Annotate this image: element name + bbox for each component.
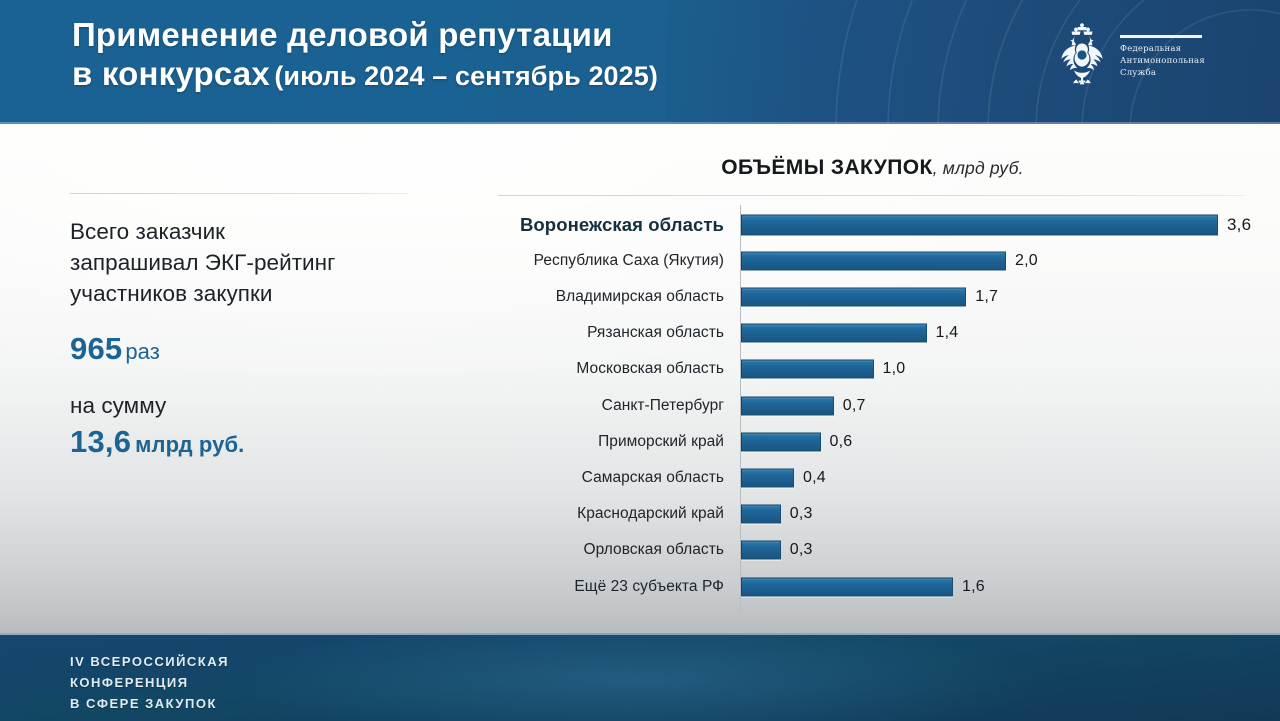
chart-bar-track: 2,0 (732, 247, 1260, 274)
total-sum-value: 13,6 (70, 424, 131, 459)
chart-bar-value: 0,7 (843, 397, 866, 415)
slide-footer: IV ВСЕРОССИЙСКАЯ КОНФЕРЕНЦИЯ В СФЕРЕ ЗАК… (0, 633, 1280, 721)
chart-bar-row: Ещё 23 субъекта РФ1,6 (430, 573, 1260, 600)
chart-bar-label: Воронежская область (430, 214, 732, 236)
chart-bar-value: 0,3 (790, 541, 813, 559)
left-panel-divider (70, 193, 408, 194)
slide-body: Всего заказчик запрашивал ЭКГ-рейтинг уч… (0, 124, 1280, 633)
chart-bar (741, 432, 821, 451)
chart-bar-value: 1,7 (975, 288, 998, 306)
chart-bar-label: Владимирская область (430, 288, 732, 306)
double-headed-eagle-icon (1052, 22, 1112, 86)
lede-line-2: запрашивал ЭКГ-рейтинг (70, 248, 422, 279)
sum-caption: на сумму (70, 393, 422, 419)
chart-bar-label: Орловская область (430, 541, 732, 559)
chart-title-unit: , млрд руб. (933, 158, 1024, 178)
request-count-stat: 965раз (70, 331, 422, 367)
slide-title-text-2: в конкурсах (72, 55, 270, 92)
footer-top-divider (0, 633, 1280, 635)
chart-bar-label: Ещё 23 субъекта РФ (430, 578, 732, 596)
total-sum-unit: млрд руб. (135, 432, 244, 457)
chart-title-main: ОБЪЁМЫ ЗАКУПОК (721, 156, 932, 179)
chart-bar-label: Рязанская область (430, 324, 732, 342)
chart-bar-row: Орловская область0,3 (430, 537, 1260, 564)
chart-title-divider (498, 195, 1245, 196)
chart-bar-row: Воронежская область3,6 (430, 211, 1260, 238)
slide-header: Применение деловой репутации в конкурсах… (0, 0, 1280, 124)
chart-bar-row: Самарская область0,4 (430, 464, 1260, 491)
chart-bar-label: Республика Саха (Якутия) (430, 252, 732, 270)
chart-bar (741, 468, 794, 487)
chart-bar-row: Санкт-Петербург0,7 (430, 392, 1260, 419)
chart-bar-label: Московская область (430, 360, 732, 378)
chart-bar (741, 505, 781, 524)
slide-title: Применение деловой репутации в конкурсах… (72, 16, 912, 94)
footer-glow (230, 633, 1049, 721)
conference-branding: IV ВСЕРОССИЙСКАЯ КОНФЕРЕНЦИЯ В СФЕРЕ ЗАК… (70, 651, 229, 714)
chart-bar-track: 0,7 (732, 392, 1260, 419)
chart-bar-track: 0,6 (732, 428, 1260, 455)
chart-bar-track: 1,6 (732, 573, 1260, 600)
chart-bar (741, 287, 966, 306)
chart-title: ОБЪЁМЫ ЗАКУПОК, млрд руб. (500, 156, 1245, 180)
chart-bar-track: 1,4 (732, 320, 1260, 347)
chart-bar-row: Приморский край0,6 (430, 428, 1260, 455)
chart-bar (741, 396, 834, 415)
chart-bar (741, 251, 1006, 270)
lede-line-1: Всего заказчик (70, 217, 422, 248)
chart-bar (741, 324, 927, 343)
chart-bar-value: 1,6 (962, 578, 985, 596)
chart-bar-row: Краснодарский край0,3 (430, 501, 1260, 528)
request-count-value: 965 (70, 331, 122, 366)
chart-bar-track: 0,4 (732, 464, 1260, 491)
chart-bar-value: 1,0 (883, 360, 906, 378)
fas-logo: Федеральная Антимонопольная Служба (1052, 14, 1242, 94)
chart-bar-track: 1,0 (732, 356, 1260, 383)
logo-line-2: Антимонопольная (1120, 55, 1205, 67)
chart-bar-track: 0,3 (732, 501, 1260, 528)
chart-bar-row: Владимирская область1,7 (430, 283, 1260, 310)
request-count-unit: раз (125, 339, 160, 364)
footer-line-3: В СФЕРЕ ЗАКУПОК (70, 693, 229, 714)
chart-bar-value: 0,3 (790, 505, 813, 523)
chart-bar-value: 0,4 (803, 469, 826, 487)
footer-line-1: IV ВСЕРОССИЙСКАЯ (70, 651, 229, 672)
lede-line-3: участников закупки (70, 279, 422, 310)
logo-line-3: Служба (1120, 67, 1205, 79)
slide-title-period: (июль 2024 – сентябрь 2025) (274, 61, 658, 91)
logo-rule (1120, 35, 1202, 38)
chart-bar (741, 214, 1218, 235)
chart-bar-value: 1,4 (936, 324, 959, 342)
chart-bar (741, 541, 781, 560)
chart-bar-label: Санкт-Петербург (430, 397, 732, 415)
chart-bar-track: 0,3 (732, 537, 1260, 564)
fas-logo-text: Федеральная Антимонопольная Служба (1120, 29, 1205, 79)
chart-bar-label: Самарская область (430, 469, 732, 487)
chart-bar-row: Рязанская область1,4 (430, 320, 1260, 347)
chart-bar-label: Приморский край (430, 433, 732, 451)
slide-title-text-1: Применение деловой репутации (72, 16, 613, 53)
chart-bar-track: 1,7 (732, 283, 1260, 310)
chart-bar-track: 3,6 (732, 211, 1260, 238)
chart-bar-row: Московская область1,0 (430, 356, 1260, 383)
chart-bar-value: 0,6 (830, 433, 853, 451)
footer-line-2: КОНФЕРЕНЦИЯ (70, 672, 229, 693)
left-stats-panel: Всего заказчик запрашивал ЭКГ-рейтинг уч… (70, 217, 422, 460)
logo-line-1: Федеральная (1120, 43, 1205, 55)
slide-title-line-1: Применение деловой репутации (72, 16, 912, 55)
chart-bar-value: 3,6 (1227, 215, 1251, 235)
chart-bar-value: 2,0 (1015, 252, 1038, 270)
chart-bar-label: Краснодарский край (430, 505, 732, 523)
procurement-volume-bar-chart: Воронежская область3,6Республика Саха (Я… (430, 205, 1260, 615)
slide-title-line-2: в конкурсах (июль 2024 – сентябрь 2025) (72, 55, 912, 94)
chart-bar (741, 577, 953, 596)
total-sum-stat: 13,6млрд руб. (70, 424, 422, 460)
chart-bar-row: Республика Саха (Якутия)2,0 (430, 247, 1260, 274)
left-panel-lede: Всего заказчик запрашивал ЭКГ-рейтинг уч… (70, 217, 422, 309)
chart-bar (741, 360, 874, 379)
